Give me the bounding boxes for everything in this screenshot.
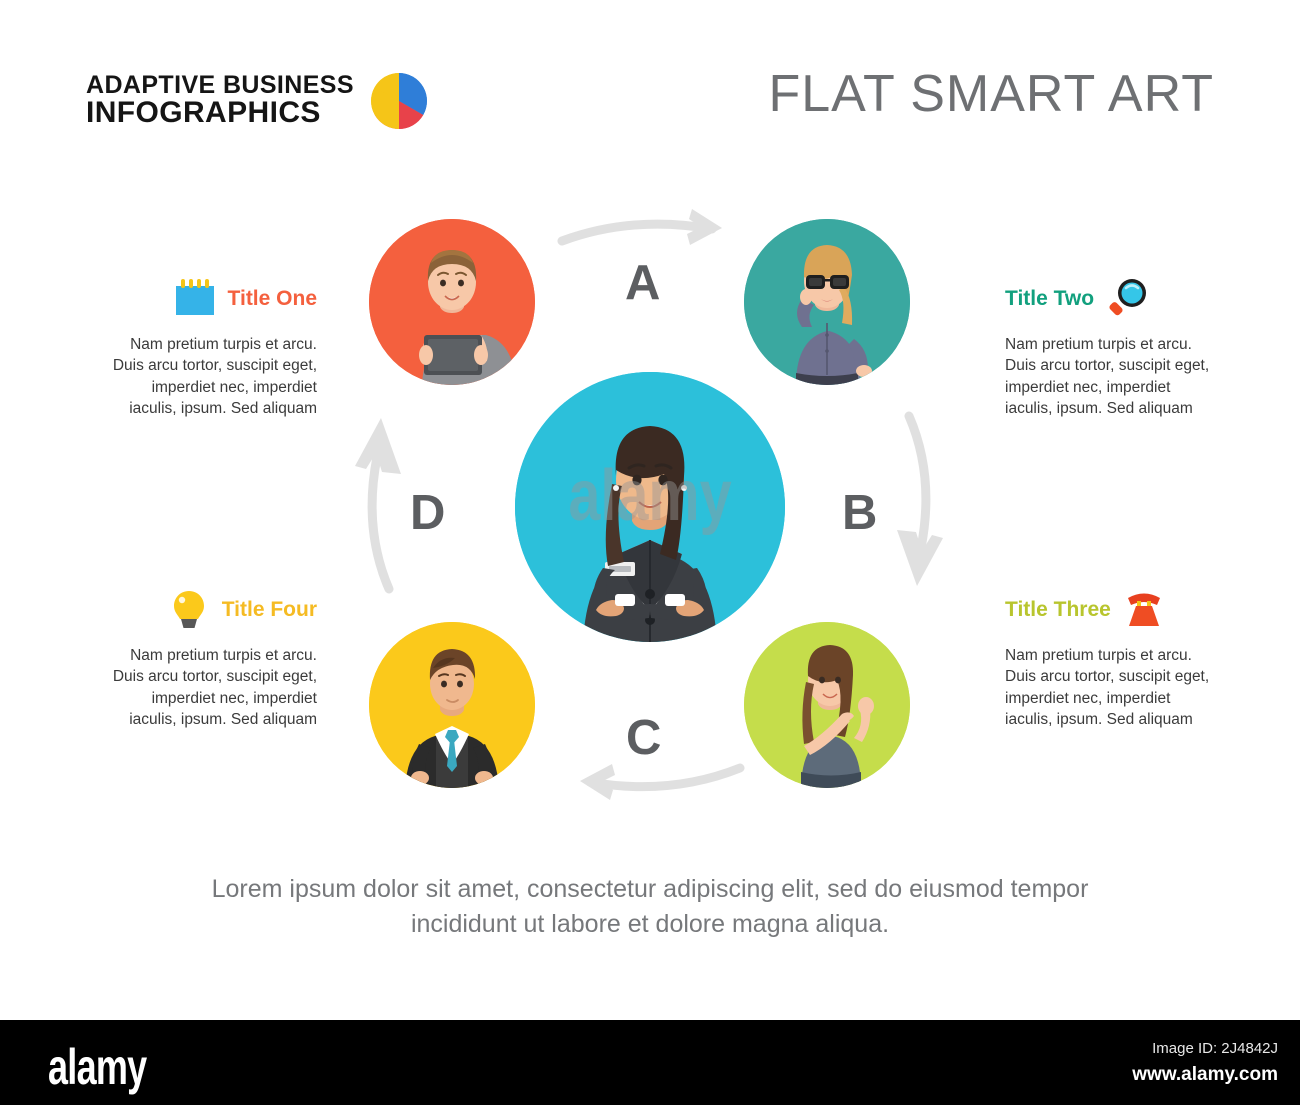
brand-logo: ADAPTIVE BUSINESS INFOGRAPHICS: [86, 72, 428, 130]
info-block-three-title: Title Three: [1005, 598, 1111, 622]
info-block-four: Title Four Nam pretium turpis et arcu. D…: [112, 583, 317, 731]
info-block-two-body: Nam pretium turpis et arcu. Duis arcu to…: [1005, 334, 1210, 420]
calendar-icon: [172, 276, 218, 322]
lightbulb-icon: [166, 587, 212, 633]
center-avatar[interactable]: [515, 372, 785, 642]
slide-canvas: ADAPTIVE BUSINESS INFOGRAPHICS FLAT SMAR…: [0, 0, 1300, 1020]
info-block-four-body: Nam pretium turpis et arcu. Duis arcu to…: [112, 645, 317, 731]
alamy-url: www.alamy.com: [1018, 1064, 1278, 1086]
brand-logo-line1: ADAPTIVE BUSINESS: [86, 73, 354, 99]
info-block-two-title: Title Two: [1005, 287, 1094, 311]
flow-letter-b: B: [842, 485, 877, 541]
info-block-three-body: Nam pretium turpis et arcu. Duis arcu to…: [1005, 645, 1210, 731]
info-block-one: Title One Nam pretium turpis et arcu. Du…: [112, 272, 317, 420]
info-block-one-header: Title One: [112, 272, 317, 326]
flow-letter-d: D: [410, 485, 445, 541]
info-block-four-title: Title Four: [222, 598, 317, 622]
pie-chart-icon: [370, 72, 428, 130]
alamy-logo: alamy: [48, 1038, 146, 1096]
watermark-bar: alamy Image ID: 2J4842J www.alamy.com: [0, 1020, 1300, 1105]
info-block-two-header: Title Two: [1005, 272, 1210, 326]
flow-letter-a: A: [625, 255, 660, 311]
node-avatar-four[interactable]: [369, 622, 535, 788]
node-avatar-one[interactable]: [369, 219, 535, 385]
image-id-label: Image ID: 2J4842J: [1018, 1040, 1278, 1057]
node-avatar-three[interactable]: [744, 622, 910, 788]
brand-logo-line2: INFOGRAPHICS: [86, 98, 354, 129]
flow-arrow-d: [345, 410, 415, 600]
info-block-one-title: Title One: [228, 287, 317, 311]
info-block-one-body: Nam pretium turpis et arcu. Duis arcu to…: [112, 334, 317, 420]
info-block-two: Title Two Nam pretium turpis et arcu. Du…: [1005, 272, 1210, 420]
flow-arrow-b: [885, 410, 955, 600]
footer-caption: Lorem ipsum dolor sit amet, consectetur …: [200, 872, 1100, 941]
info-block-three-header: Title Three: [1005, 583, 1210, 637]
page-title: FLAT SMART ART: [768, 64, 1214, 124]
telephone-icon: [1121, 587, 1167, 633]
info-block-three: Title Three Nam pretium turpis et arcu. …: [1005, 583, 1210, 731]
magnifier-icon: [1104, 276, 1150, 322]
node-avatar-two[interactable]: [744, 219, 910, 385]
info-block-four-header: Title Four: [112, 583, 317, 637]
flow-letter-c: C: [626, 710, 661, 766]
brand-logo-text: ADAPTIVE BUSINESS INFOGRAPHICS: [86, 73, 354, 129]
